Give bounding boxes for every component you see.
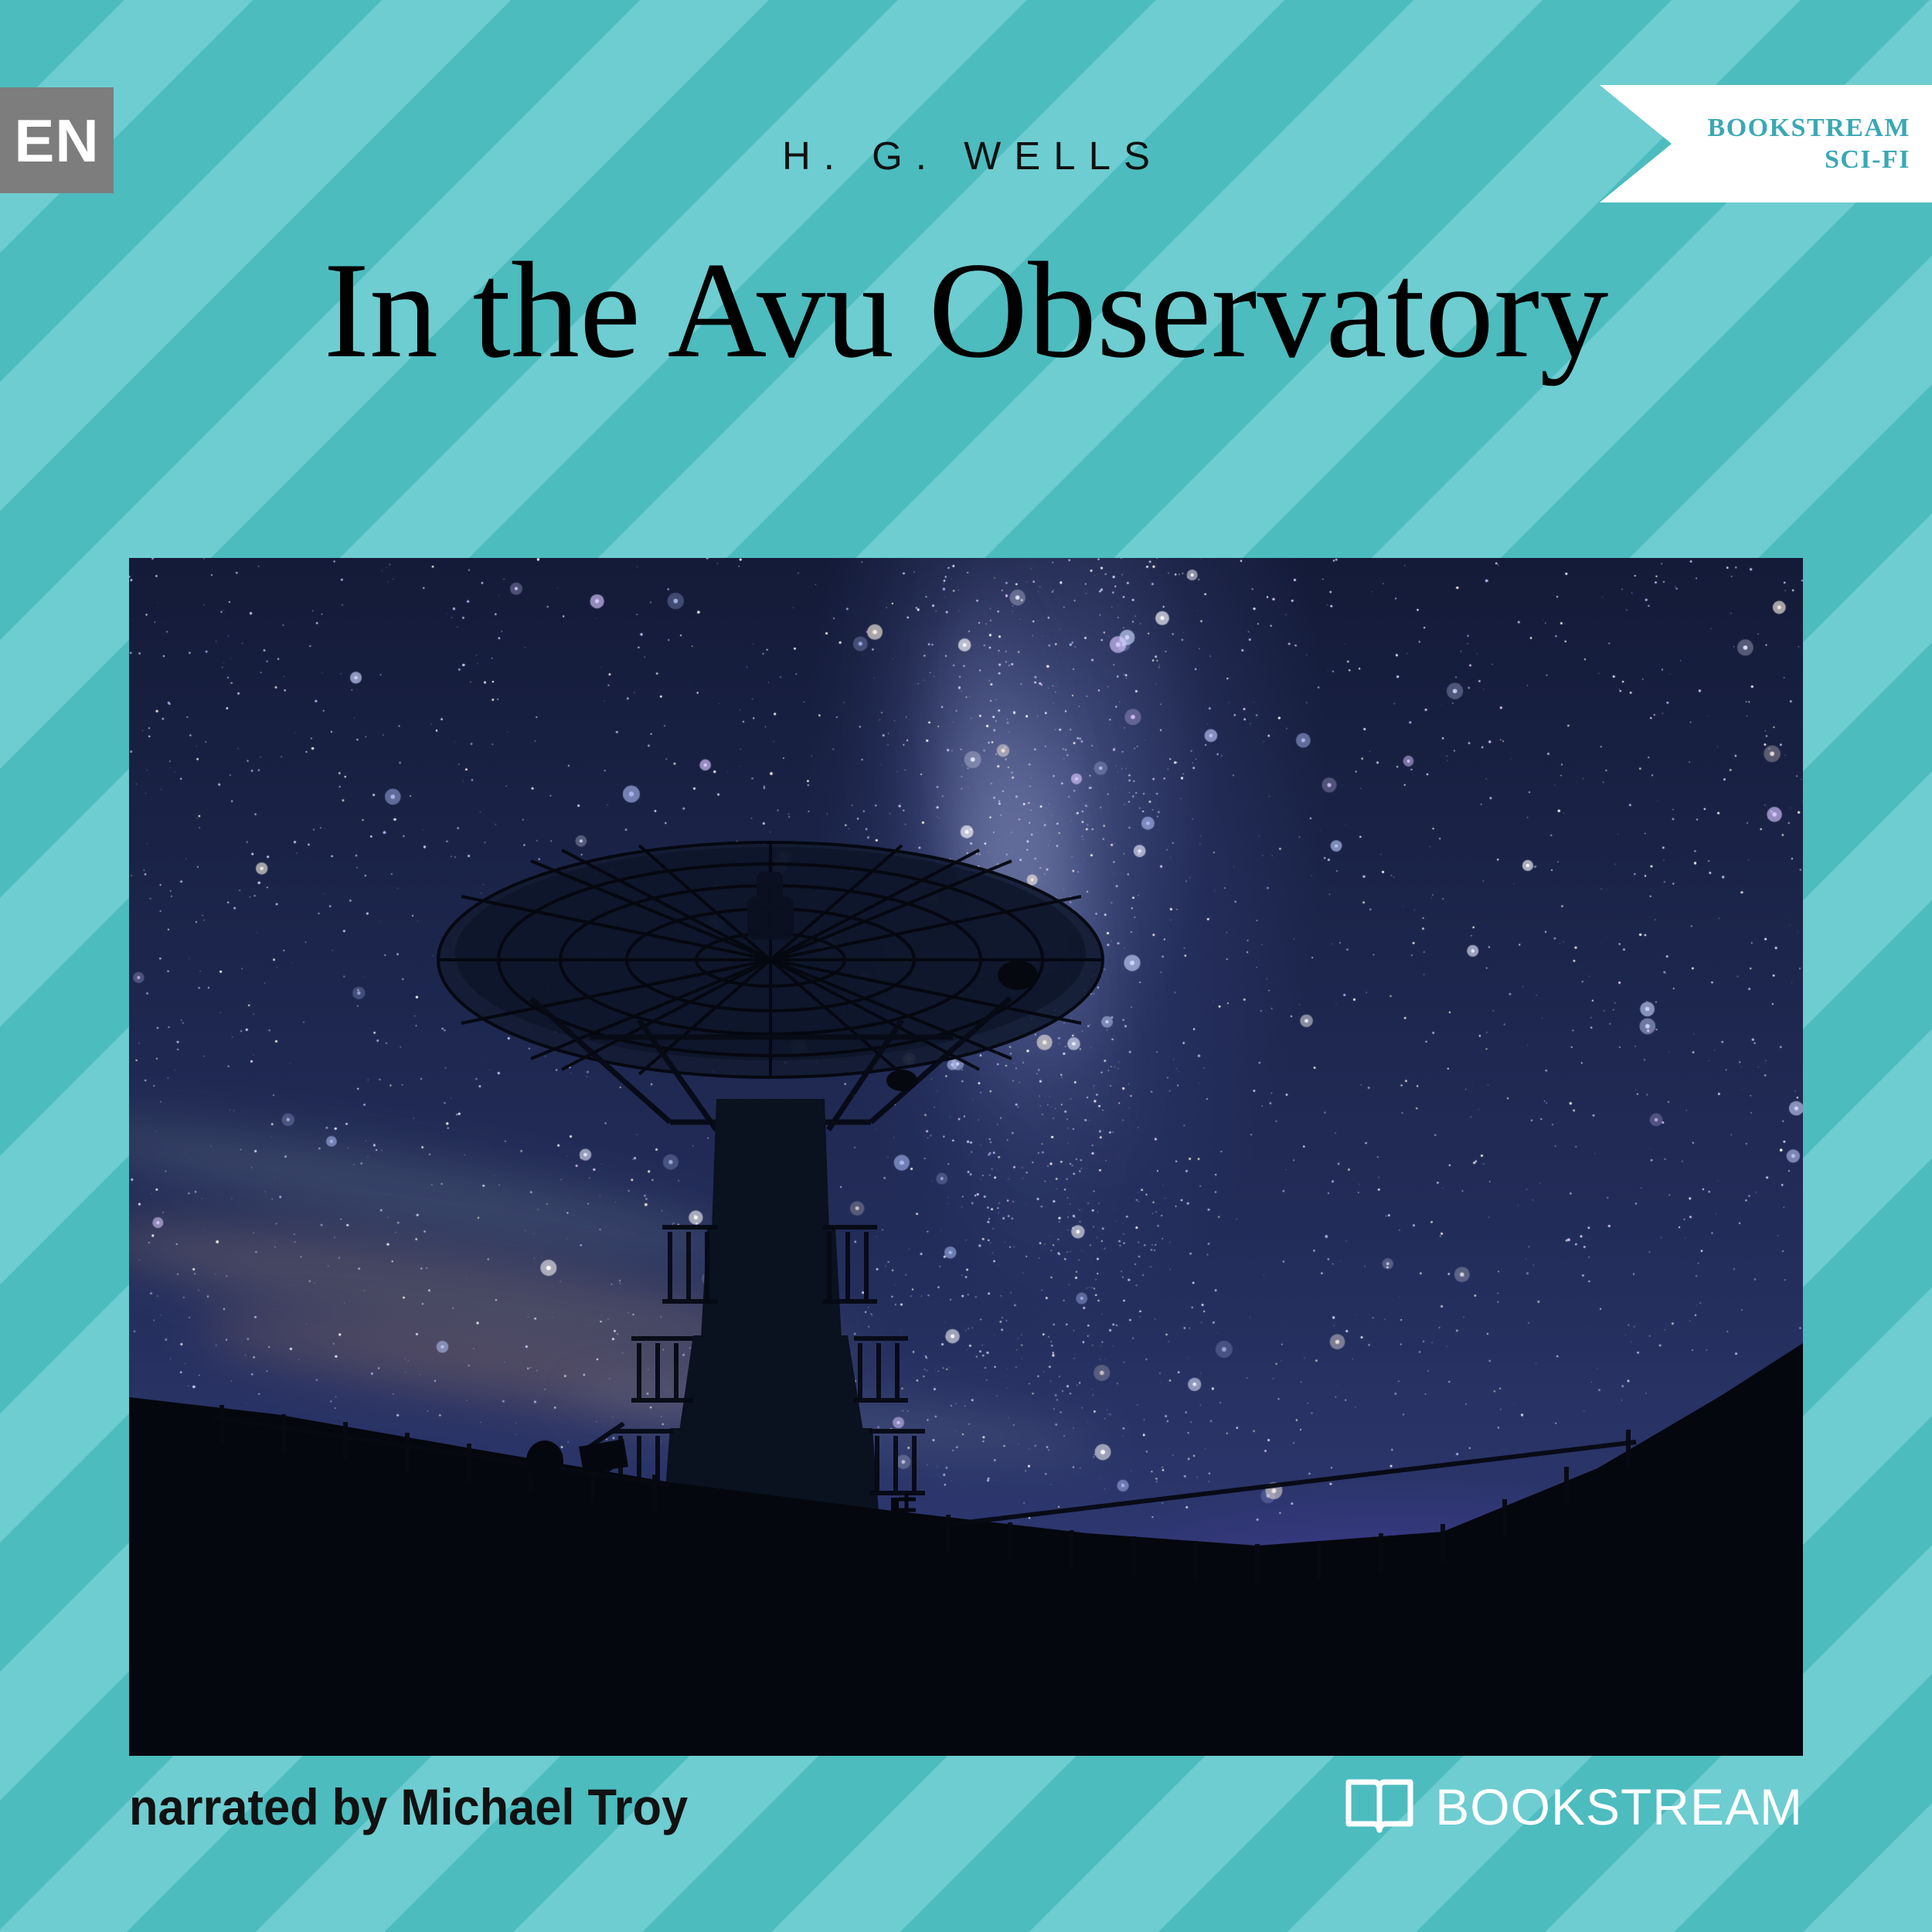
publisher-logo-text: BOOKSTREAM: [1435, 1781, 1803, 1832]
open-book-icon: [1344, 1776, 1415, 1838]
audiobook-cover: EN BOOKSTREAM SCI-FI H. G. WELLS In the …: [0, 0, 1932, 1932]
publisher-logo: BOOKSTREAM: [1344, 1776, 1803, 1838]
author-name: H. G. WELLS: [0, 133, 1932, 179]
terrain-silhouette: [129, 1343, 1803, 1756]
radio-telescope-silhouette: [129, 558, 1803, 1756]
book-title: In the Avu Observatory: [93, 241, 1839, 379]
cover-artwork: [129, 558, 1803, 1756]
narrator-credit: narrated by Michael Troy: [129, 1777, 688, 1836]
